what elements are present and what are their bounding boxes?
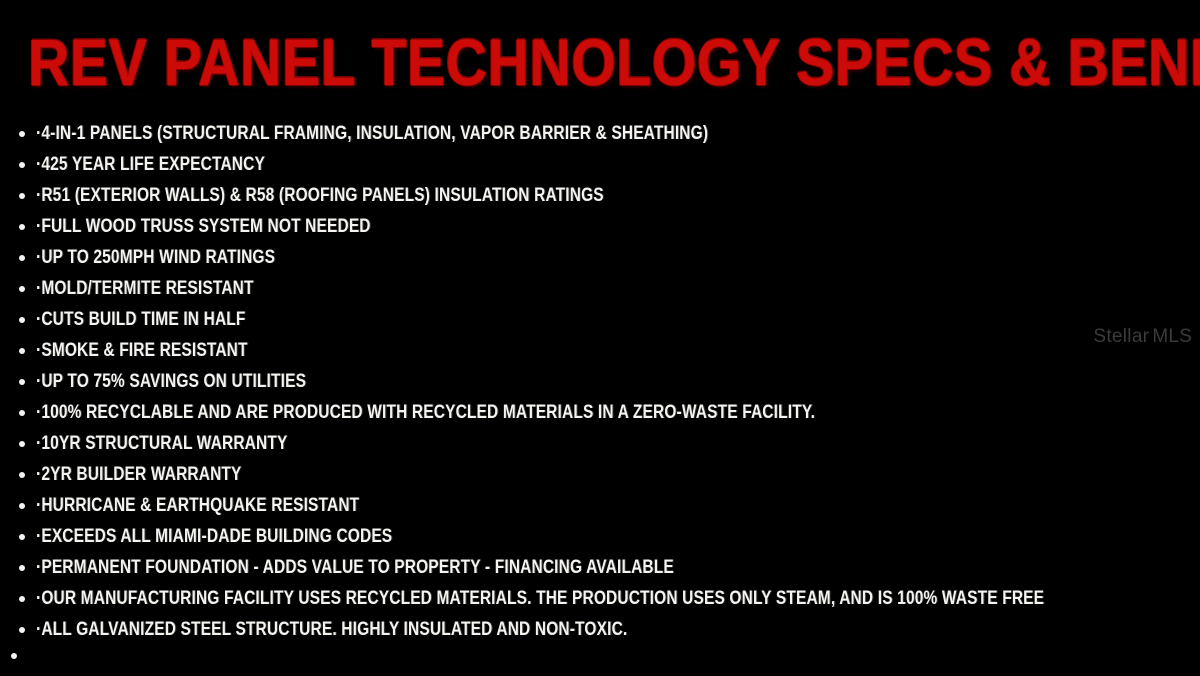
list-item (0, 645, 1200, 667)
list-item: ·ALL GALVANIZED STEEL STRUCTURE. HIGHLY … (0, 614, 1200, 645)
watermark-brand-first: Stellar (1093, 326, 1149, 347)
watermark-brand-second: MLS (1152, 326, 1192, 347)
bullet-disc-icon (19, 441, 25, 447)
bullet-disc-icon (19, 379, 25, 385)
bullet-disc-icon (11, 653, 17, 659)
bullet-disc-icon (19, 627, 25, 633)
bullet-disc-icon (19, 317, 25, 323)
bullet-disc-icon (19, 503, 25, 509)
bullet-disc-icon (19, 596, 25, 602)
list-item-label: ·ALL GALVANIZED STEEL STRUCTURE. HIGHLY … (36, 610, 627, 649)
bullet-disc-icon (19, 193, 25, 199)
bullet-disc-icon (19, 224, 25, 230)
bullet-disc-icon (19, 286, 25, 292)
bullet-disc-icon (19, 255, 25, 261)
bullet-disc-icon (19, 472, 25, 478)
stellar-mls-watermark: StellarMLS (1093, 326, 1192, 348)
bullet-disc-icon (19, 565, 25, 571)
bullet-disc-icon (19, 131, 25, 137)
bullet-disc-icon (19, 348, 25, 354)
page-title: REV PANEL TECHNOLOGY SPECS & BENEFITS (28, 23, 1200, 104)
bullet-disc-icon (19, 410, 25, 416)
bullet-disc-icon (19, 162, 25, 168)
bullet-disc-icon (19, 534, 25, 540)
specs-benefits-list: ·4-IN-1 PANELS (STRUCTURAL FRAMING, INSU… (0, 118, 1200, 667)
slide-canvas: REV PANEL TECHNOLOGY SPECS & BENEFITS ·4… (0, 0, 1200, 676)
